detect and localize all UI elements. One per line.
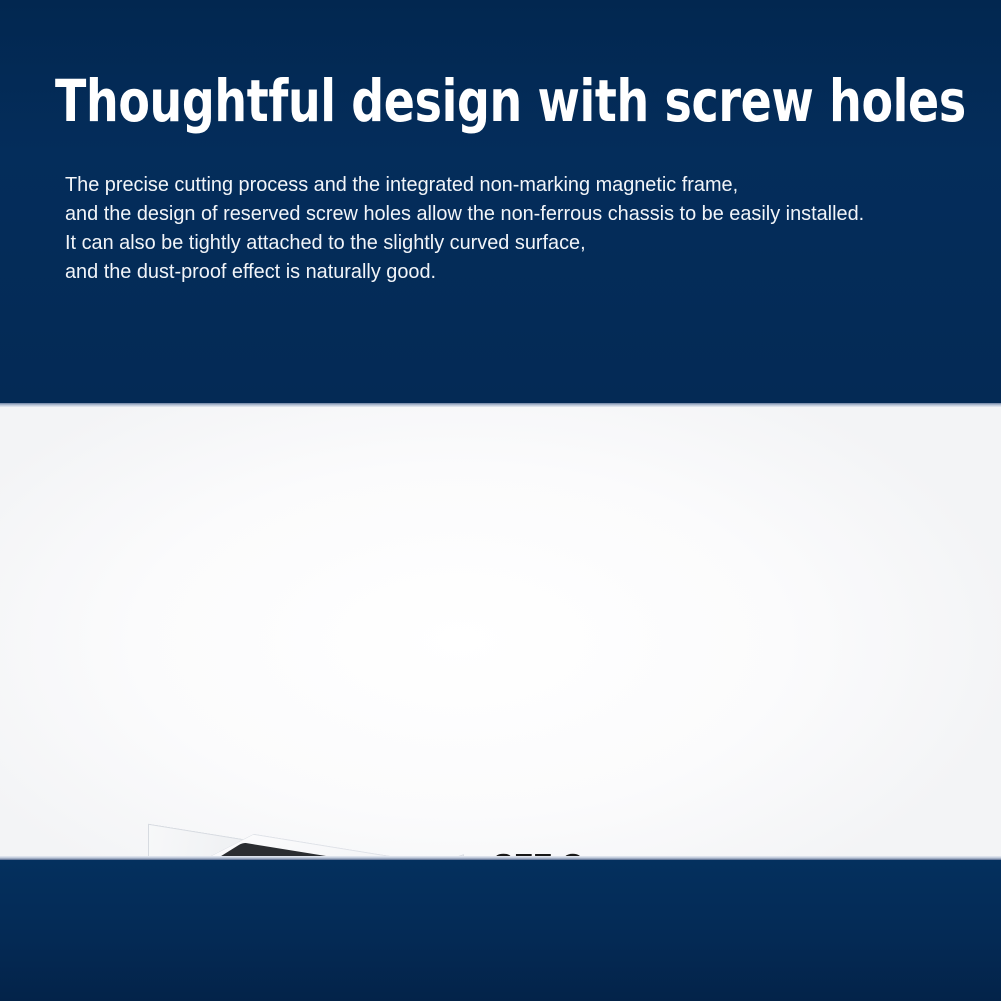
page-title: Thoughtful design with screw holes (55, 72, 847, 130)
label-sff-case: SFF Case (493, 847, 636, 856)
description-line-1: The precise cutting process and the inte… (65, 170, 928, 199)
description-line-3: It can also be tightly attached to the s… (65, 228, 928, 257)
description-line-2: and the design of reserved screw holes a… (65, 199, 928, 228)
description-line-4: and the dust-proof effect is naturally g… (65, 257, 928, 286)
product-feature-slide: Thoughtful design with screw holes The p… (0, 0, 1001, 1001)
footer-band (0, 860, 1001, 1001)
white-pc-case-illustration: Thermaltake GT65F-PB PSU (140, 819, 470, 856)
product-photo: Thermaltake GT65F-PB PSU (0, 407, 1001, 856)
headline-banner: Thoughtful design with screw holes The p… (0, 0, 1001, 403)
description-paragraph: The precise cutting process and the inte… (65, 170, 928, 286)
